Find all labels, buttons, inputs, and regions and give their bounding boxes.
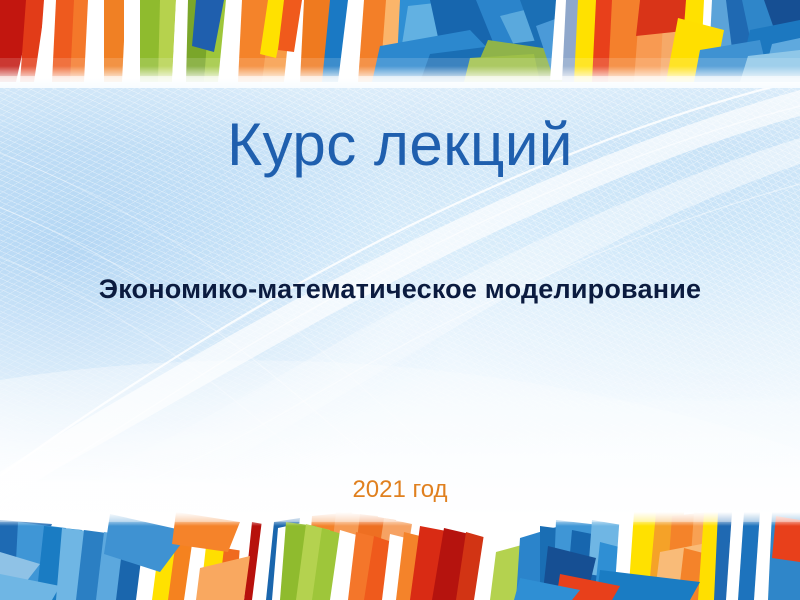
slide-year: 2021 год [0, 475, 800, 505]
presentation-title-slide: Курс лекций Экономико-математическое мод… [0, 0, 800, 600]
bottom-decorative-banner [0, 512, 800, 600]
slide-subtitle: Экономико-математическое моделирование [0, 272, 800, 306]
slide-title: Курс лекций [0, 112, 800, 178]
top-decorative-banner [0, 0, 800, 88]
